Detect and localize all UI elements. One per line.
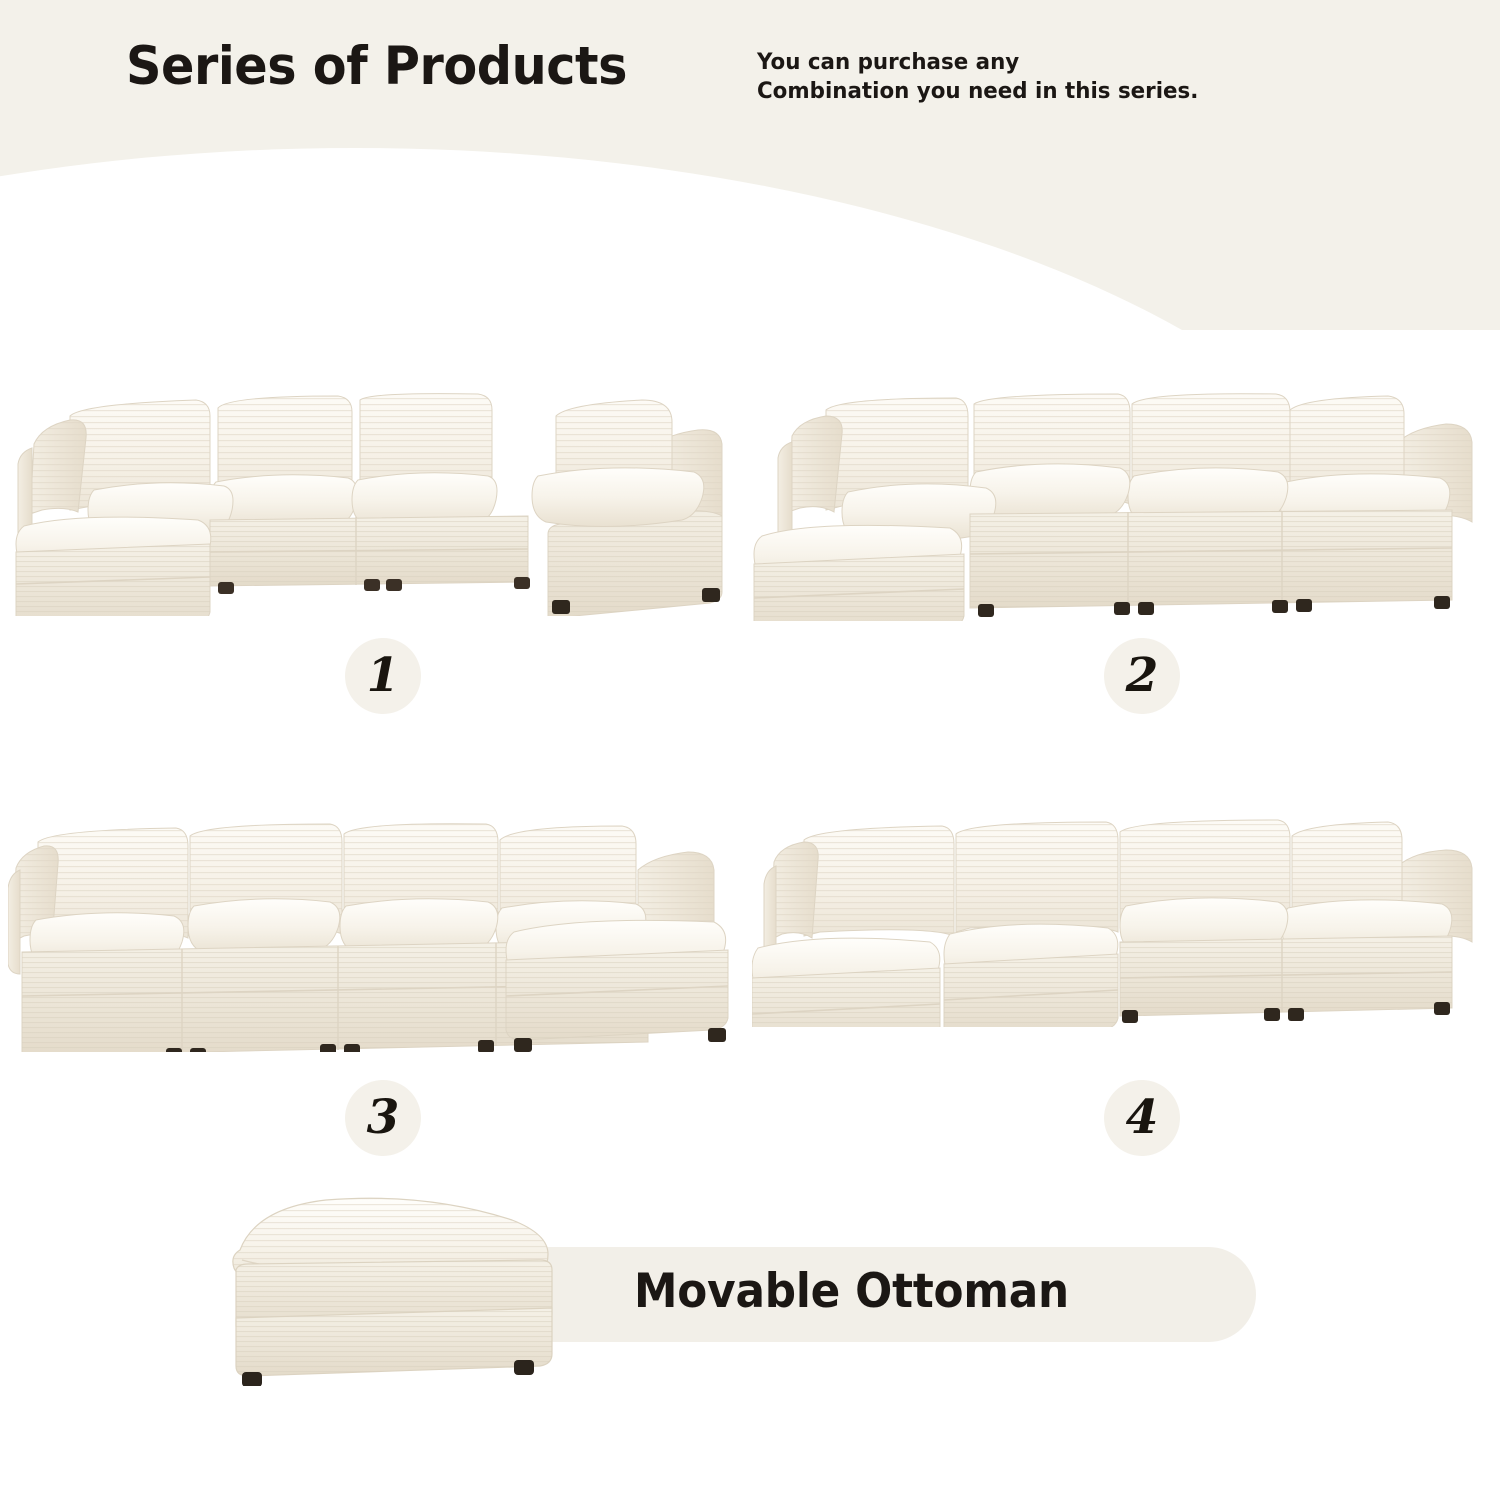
configuration-4[interactable] [752,812,1482,1027]
badge-config-4[interactable]: 4 [1104,1080,1180,1156]
badge-config-2-label: 2 [1126,652,1159,699]
badge-config-1-label: 1 [367,652,400,699]
module-base-sofa [970,510,1452,608]
module-ottoman-left [16,517,211,616]
header-curve-decoration [0,148,1430,330]
configuration-2[interactable] [752,386,1482,621]
badge-config-4-label: 4 [1126,1094,1159,1141]
sofa-illustration-4 [752,812,1482,1027]
badge-config-3-label: 3 [367,1094,400,1141]
ottoman-illustration [196,1186,586,1386]
ottoman-base-lower [236,1308,552,1376]
module-ottoman-right [506,920,728,1040]
configuration-3[interactable] [8,812,738,1052]
module-base-sofa [1120,936,1452,1016]
header-subtitle-line-2: Combination you need in this series. [757,77,1198,106]
page-title: Series of Products [126,36,627,97]
header-subtitle: You can purchase any Combination you nee… [757,48,1198,106]
module-ottoman-left [754,525,964,621]
movable-ottoman-label: Movable Ottoman [634,1264,1069,1319]
ottoman-hero-image[interactable] [196,1186,586,1391]
module-arm-left [778,416,842,544]
sofa-illustration-1 [8,386,738,616]
module-ottoman-middle [944,924,1118,1027]
badge-config-1[interactable]: 1 [345,638,421,714]
module-base-center [210,516,528,586]
sofa-illustration-2 [752,386,1482,621]
header-text-block: Series of Products You can purchase any … [0,0,1500,150]
configuration-1[interactable] [8,386,738,616]
header-subtitle-line-1: You can purchase any [757,48,1198,77]
sofa-illustration-3 [8,812,738,1052]
movable-ottoman-pill: Movable Ottoman [530,1247,1256,1342]
module-ottoman-left [752,938,940,1027]
badge-config-3[interactable]: 3 [345,1080,421,1156]
badge-config-2[interactable]: 2 [1104,638,1180,714]
